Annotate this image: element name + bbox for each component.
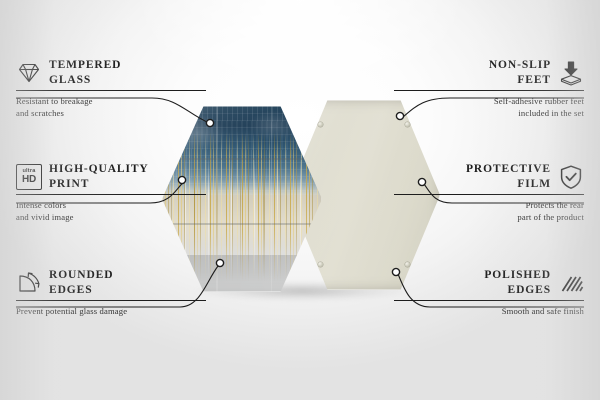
- feature-divider: [16, 194, 206, 195]
- shield-check-icon: [558, 164, 584, 190]
- feature-title: POLISHEDEDGES: [484, 268, 551, 297]
- feature-description: Self-adhesive rubber feetincluded in the…: [394, 95, 584, 119]
- rounded-corner-icon: [16, 270, 42, 296]
- feature-description: Resistant to breakageand scratches: [16, 95, 206, 119]
- rubber-foot: [405, 262, 410, 267]
- feature-title: NON-SLIPFEET: [489, 58, 551, 87]
- feature-divider: [394, 300, 584, 301]
- feature-description: Intense colorsand vivid image: [16, 199, 206, 223]
- feature-polished-edges: POLISHEDEDGES Smooth and safe finish: [394, 268, 584, 317]
- feature-description: Smooth and safe finish: [394, 305, 584, 317]
- infographic-canvas: TEMPEREDGLASS Resistant to breakageand s…: [0, 0, 600, 400]
- feature-description: Prevent potential glass damage: [16, 305, 206, 317]
- feature-title: PROTECTIVEFILM: [466, 162, 551, 191]
- feature-divider: [16, 300, 206, 301]
- ultra-hd-badge-icon: ultra HD: [16, 164, 42, 190]
- feature-title: ROUNDEDEDGES: [49, 268, 113, 297]
- feature-divider: [394, 194, 584, 195]
- feature-divider: [394, 90, 584, 91]
- feature-description: Protects the rearpart of the product: [394, 199, 584, 223]
- feature-protective-film: PROTECTIVEFILM Protects the rearpart of …: [394, 162, 584, 223]
- feature-title: HIGH-QUALITYPRINT: [49, 162, 149, 191]
- feature-high-quality-print: ultra HD HIGH-QUALITYPRINT Intense color…: [16, 162, 206, 223]
- feature-non-slip-feet: NON-SLIPFEET Self-adhesive rubber feetin…: [394, 58, 584, 119]
- feature-rounded-edges: ROUNDEDEDGES Prevent potential glass dam…: [16, 268, 206, 317]
- press-down-pad-icon: [558, 60, 584, 86]
- rubber-foot: [405, 122, 410, 127]
- feature-title: TEMPEREDGLASS: [49, 58, 121, 87]
- feature-tempered-glass: TEMPEREDGLASS Resistant to breakageand s…: [16, 58, 206, 119]
- diamond-icon: [16, 60, 42, 86]
- badge-hd-label: HD: [22, 175, 36, 185]
- feature-divider: [16, 90, 206, 91]
- diagonal-hatch-icon: [558, 270, 584, 296]
